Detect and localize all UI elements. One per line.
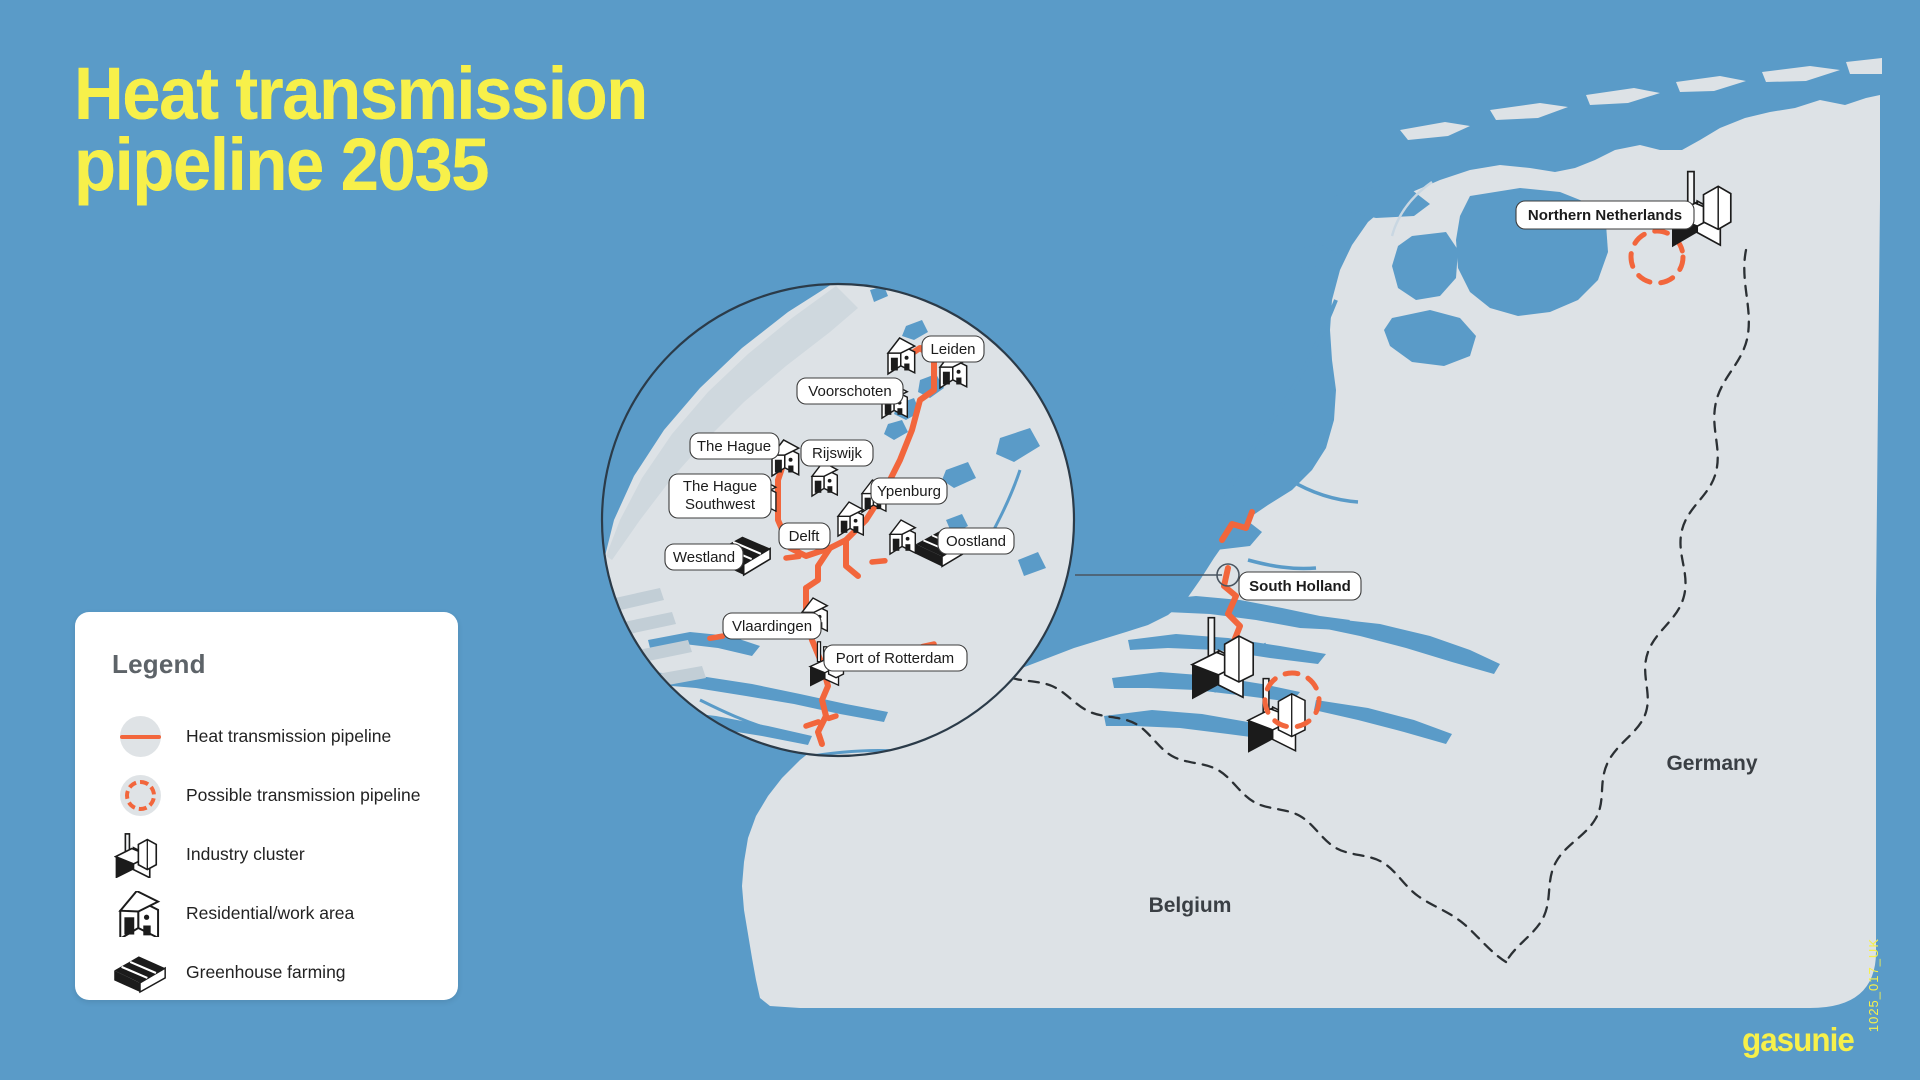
- map-label-vlaardingen: Vlaardingen: [723, 613, 821, 639]
- map-label-voorschoten: Voorschoten: [797, 378, 903, 404]
- label-text: Ypenburg: [877, 483, 941, 500]
- house-icon: [112, 886, 168, 942]
- map-label-the-hague: The Hague: [690, 433, 779, 459]
- label-text: Vlaardingen: [732, 618, 812, 635]
- dashed-ring-disc-icon: [112, 768, 168, 824]
- legend-item-label: Greenhouse farming: [186, 962, 346, 983]
- map-label-rijswijk: Rijswijk: [801, 440, 873, 466]
- gasunie-logo: gasunie: [1742, 1021, 1854, 1059]
- legend-item-label: Residential/work area: [186, 903, 354, 924]
- map-label-westland: Westland: [665, 544, 743, 570]
- map-label-the-hague-southwest: The Hague Southwest: [669, 474, 771, 518]
- country-label-belgium: Belgium: [1149, 894, 1232, 917]
- label-text: Voorschoten: [808, 383, 891, 400]
- map-label-port-of-rotterdam: Port of Rotterdam: [824, 645, 967, 671]
- legend-rows: Heat transmission pipeline Possible tran…: [112, 707, 440, 1002]
- greenhouse-icon: [112, 945, 168, 1001]
- legend-card: Legend Heat transmission pipeline Possib…: [75, 612, 458, 1000]
- legend-item-label: Possible transmission pipeline: [186, 785, 420, 806]
- legend-item-residential-work-area[interactable]: Residential/work area: [112, 884, 440, 943]
- map-label-south-holland: South Holland: [1239, 572, 1361, 600]
- label-text: Delft: [789, 528, 821, 545]
- infographic-canvas: Heat transmission pipeline 2035: [0, 0, 1920, 1080]
- map-label-oostland: Oostland: [938, 528, 1014, 554]
- legend-item-possible-transmission-pipeline[interactable]: Possible transmission pipeline: [112, 766, 440, 825]
- label-text-line1: The Hague: [683, 478, 757, 495]
- label-text-line2: Southwest: [685, 496, 756, 513]
- document-code: 1025_017_UK: [1866, 938, 1881, 1032]
- country-label-germany: Germany: [1666, 752, 1757, 775]
- label-text: Oostland: [946, 533, 1006, 550]
- legend-item-industry-cluster[interactable]: Industry cluster: [112, 825, 440, 884]
- legend-item-label: Industry cluster: [186, 844, 305, 865]
- label-text: Rijswijk: [812, 445, 862, 462]
- map-label-delft: Delft: [779, 523, 830, 549]
- map-label-ypenburg: Ypenburg: [871, 478, 947, 504]
- solid-line-disc-icon: [112, 709, 168, 765]
- label-text: Northern Netherlands: [1528, 207, 1682, 224]
- legend-item-label: Heat transmission pipeline: [186, 726, 391, 747]
- map-label-northern-netherlands: Northern Netherlands: [1516, 201, 1694, 229]
- legend-title: Legend: [112, 649, 206, 680]
- map-label-leiden: Leiden: [922, 336, 984, 362]
- label-text: The Hague: [697, 438, 771, 455]
- label-text: South Holland: [1249, 578, 1351, 595]
- legend-item-heat-transmission-pipeline[interactable]: Heat transmission pipeline: [112, 707, 440, 766]
- label-text: Leiden: [930, 341, 975, 358]
- label-text: Westland: [673, 549, 735, 566]
- factory-icon: [112, 827, 168, 883]
- legend-item-greenhouse-farming[interactable]: Greenhouse farming: [112, 943, 440, 1002]
- label-text: Port of Rotterdam: [836, 650, 954, 667]
